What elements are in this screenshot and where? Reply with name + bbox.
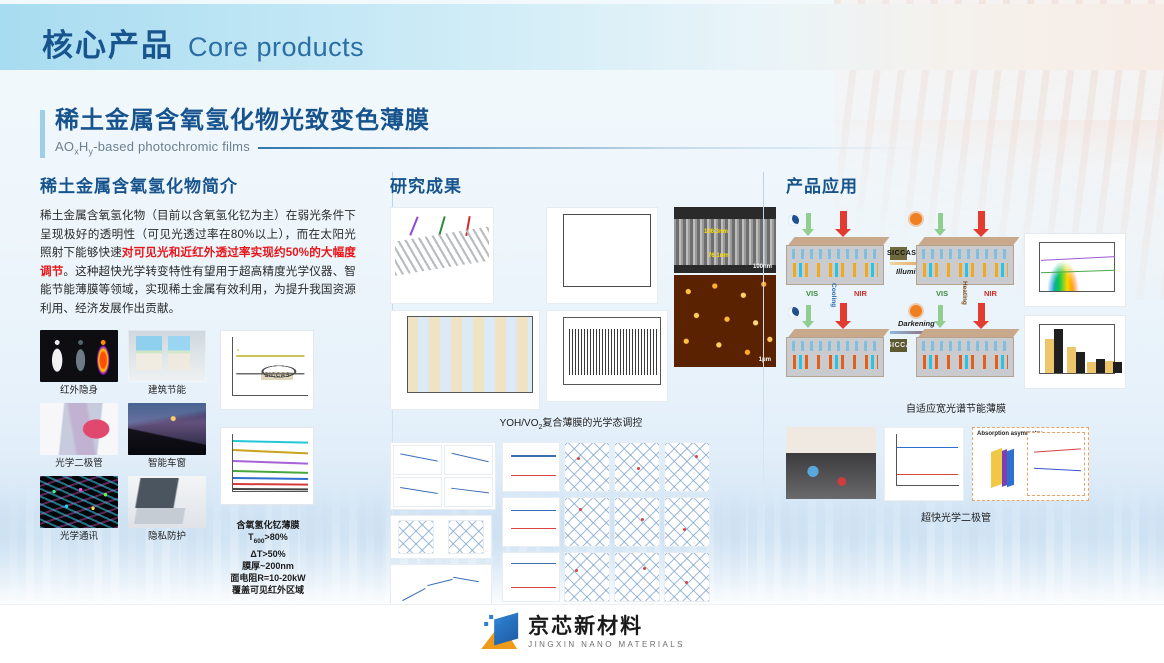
thumb-cell-ir: 红外隐身 bbox=[40, 330, 118, 396]
tem-thickness-label-1: 106.3nm bbox=[704, 229, 728, 235]
slab-row2-br bbox=[920, 355, 1008, 369]
nir-arrow-stem-br bbox=[978, 303, 985, 321]
siccas-watermark: SICCAS bbox=[261, 372, 293, 380]
intro-text-part2: 。这种超快光学转变特性有望用于超高精度光学仪器、智能节能薄膜等领域，实现稀土金属… bbox=[40, 265, 356, 315]
research-heading: 研究成果 bbox=[390, 172, 752, 197]
section-title-cn: 稀土金属含氧氢化物光致变色薄膜 bbox=[55, 106, 918, 136]
md3-red bbox=[511, 587, 556, 588]
section-title-en: AOxHy-based photochromic films bbox=[55, 139, 250, 157]
intro-paragraph: 稀土金属含氧氢化物（目前以含氧氢化钇为主）在弱光条件下呈现极好的透明性（可见光透… bbox=[40, 207, 356, 318]
vis-arrow-head-tr bbox=[934, 229, 946, 236]
md-lattice-2a bbox=[564, 497, 610, 547]
sun-icon-tr bbox=[910, 213, 922, 225]
tem-cross-section-image: 106.3nm 76.1nm 100nm bbox=[674, 207, 776, 273]
gap-line-4 bbox=[451, 488, 489, 494]
series-line-7 bbox=[233, 488, 308, 490]
slab-row1-tr bbox=[920, 249, 1008, 259]
vis-arrow-head-tl bbox=[802, 229, 814, 236]
slab-row2-tl bbox=[790, 263, 878, 277]
thumb-cell-diode: 光学二极管 bbox=[40, 403, 118, 469]
md-energy-chart-3 bbox=[502, 552, 560, 602]
column-intro: 稀土金属含氧氢化物简介 稀土金属含氧氢化物（目前以含氧氢化钇为主）在弱光条件下呈… bbox=[40, 172, 372, 562]
vis-arrow-head-br bbox=[934, 321, 946, 328]
chart-y-axis bbox=[232, 337, 233, 396]
pp-blue-trace bbox=[897, 447, 958, 448]
brand-name-cn: 京芯新材料 bbox=[528, 615, 685, 638]
energy-gap-panel-2 bbox=[444, 445, 493, 475]
column-research: 研究成果 bbox=[372, 172, 764, 562]
nir-arrow-head-tr bbox=[973, 229, 989, 237]
energy-gap-panel-grid bbox=[390, 442, 496, 510]
photochromic-cycle-diagram: SICCAS SICCAS Illuminating bbox=[786, 207, 1016, 392]
afm-surface-image: 1μm bbox=[674, 275, 776, 367]
logo-pixel-3 bbox=[484, 622, 488, 626]
film-slab-bl bbox=[786, 329, 886, 375]
header-title-en: Core products bbox=[188, 32, 364, 63]
film-slab-tr bbox=[916, 237, 1016, 283]
barrier-line-2 bbox=[427, 578, 453, 586]
cycling-stability-chart bbox=[390, 310, 540, 410]
research-caption-1: YOH/VO2复合薄膜的光学态调控 bbox=[390, 417, 752, 434]
lattice-dot bbox=[579, 508, 582, 511]
company-logo: 京芯新材料 JINGXIN NANO MATERIALS bbox=[479, 613, 685, 651]
lattice-initial bbox=[398, 520, 434, 554]
series-line-5 bbox=[233, 477, 308, 480]
thumb-cell-car: 智能车窗 bbox=[128, 403, 206, 469]
series-line-1 bbox=[233, 440, 308, 443]
energy-gap-panel-3 bbox=[393, 477, 442, 507]
gap-line-1 bbox=[400, 454, 438, 463]
md-energy-chart-2 bbox=[502, 497, 560, 547]
md-lattice-1b bbox=[614, 442, 660, 492]
bar-tlum-3 bbox=[1087, 362, 1096, 373]
thumb-label-privacy: 隐私防护 bbox=[128, 531, 206, 542]
md-lattice-1a bbox=[564, 442, 610, 492]
slab-row1-bl bbox=[790, 341, 878, 351]
barrier-line-1 bbox=[402, 587, 426, 600]
switching-oscillation-chart bbox=[546, 310, 668, 402]
column-application: 产品应用 SICCAS bbox=[764, 172, 1126, 562]
thumb-label-diode: 光学二极管 bbox=[40, 458, 118, 469]
lattice-final bbox=[448, 520, 484, 554]
research-figure-row-1: 106.3nm 76.1nm 100nm 1μm bbox=[390, 207, 752, 410]
nir-arrow-head-bl bbox=[835, 321, 851, 329]
siccas-label-1: SICCAS bbox=[887, 250, 916, 257]
spectra-frame bbox=[563, 214, 651, 287]
lattice-dot bbox=[643, 567, 646, 570]
schematic-arrow-3 bbox=[465, 216, 470, 236]
bar-tsol-4 bbox=[1113, 362, 1122, 373]
nir-arrow-head-tl bbox=[835, 229, 851, 237]
vis-arrow-stem-tr bbox=[938, 213, 943, 229]
building-energy-thumb bbox=[128, 330, 206, 382]
thumb-label-building: 建筑节能 bbox=[128, 385, 206, 396]
spec-t-sub: 600 bbox=[254, 538, 265, 545]
siccas-label-3: SICCAS bbox=[887, 342, 916, 349]
heating-label: Heating bbox=[961, 281, 968, 305]
film-slab-tl bbox=[786, 237, 886, 283]
bar-tlum-2 bbox=[1067, 347, 1076, 373]
lattice-dot bbox=[683, 528, 686, 531]
film-structure-schematic bbox=[390, 207, 494, 304]
thumb-label-car: 智能车窗 bbox=[128, 458, 206, 469]
md-row-3 bbox=[502, 552, 710, 602]
transmittance-bar-chart bbox=[1024, 315, 1126, 389]
vis-arrow-stem-br bbox=[938, 305, 943, 321]
tem-scale-label: 100nm bbox=[753, 264, 772, 270]
spec-line-4: 膜厚~200nm bbox=[220, 560, 316, 572]
sub-post: -based photochromic films bbox=[93, 139, 250, 154]
solar-spectrum-fill bbox=[1041, 247, 1085, 291]
md-lattice-2c bbox=[664, 497, 710, 547]
thumb-col-1: 红外隐身 光学二极管 光学通讯 bbox=[40, 330, 118, 596]
application-heading: 产品应用 bbox=[786, 172, 1126, 197]
thumb-cell-fiber: 光学通讯 bbox=[40, 476, 118, 542]
energy-gap-panel-1 bbox=[393, 445, 442, 475]
thumb-cell-privacy: 隐私防护 bbox=[128, 476, 206, 542]
spec-line-5: 面电阻R=10-20kW bbox=[220, 572, 316, 584]
md1-blue bbox=[511, 455, 556, 456]
header-title-cn: 核心产品 bbox=[42, 20, 174, 65]
inset-red-line bbox=[1034, 449, 1081, 453]
header-title-group: 核心产品 Core products bbox=[42, 20, 364, 65]
privacy-protection-thumb bbox=[128, 476, 206, 528]
asym-inset-chart bbox=[1027, 432, 1085, 496]
caption1-pre: YOH/VO bbox=[500, 418, 539, 429]
film-specs-list: 含氧氢化钇薄膜 T600>80% ΔT>50% 膜厚~200nm 面电阻R=10… bbox=[220, 519, 316, 596]
optical-diode-thumb bbox=[40, 403, 118, 455]
thumb-label-ir: 红外隐身 bbox=[40, 385, 118, 396]
chart2-x-axis bbox=[232, 491, 308, 492]
smart-car-window-thumb bbox=[128, 403, 206, 455]
lattice-dot bbox=[637, 467, 640, 470]
md-lattice-1c bbox=[664, 442, 710, 492]
pp-x-axis bbox=[896, 485, 959, 486]
bar-tsol-3 bbox=[1096, 359, 1105, 373]
thumb-cell-building: 建筑节能 bbox=[128, 330, 206, 396]
slab-row1-br bbox=[920, 341, 1008, 351]
energy-gap-panel-4 bbox=[444, 477, 493, 507]
thumb-col-2: 建筑节能 智能车窗 隐私防护 bbox=[128, 330, 206, 596]
nir-arrow-stem-tr bbox=[978, 211, 985, 229]
page-footer: 京芯新材料 JINGXIN NANO MATERIALS bbox=[0, 604, 1164, 663]
gap-line-2 bbox=[451, 453, 488, 463]
nir-arrow-stem-bl bbox=[840, 303, 847, 321]
slide: 核心产品 Core products 稀土金属含氧氢化物光致变色薄膜 AOxHy… bbox=[0, 0, 1164, 663]
lattice-dot bbox=[577, 457, 580, 460]
slab-row2-bl bbox=[790, 355, 878, 369]
diode-layer-yellow bbox=[991, 448, 1002, 488]
spec-t-val: >80% bbox=[265, 532, 288, 542]
nir-arrow-head-br bbox=[973, 321, 989, 329]
logo-pixel-1 bbox=[489, 615, 493, 619]
spec-line-6: 覆盖可见红外区域 bbox=[220, 584, 316, 596]
application-figure-row-2: Absorption asymmetry bbox=[786, 427, 1126, 501]
md2-red bbox=[511, 528, 556, 529]
transmittance-wavelength-chart: SICCAS bbox=[220, 330, 314, 410]
schematic-arrow-1 bbox=[409, 216, 418, 235]
md-lattice-3c bbox=[664, 552, 710, 602]
application-thumb-grid: 红外隐身 光学二极管 光学通讯 建筑节能 bbox=[40, 330, 356, 596]
logo-mark-icon bbox=[479, 613, 519, 651]
diode-layer-blue bbox=[1007, 449, 1014, 488]
hydrogen-diffusion-schematic bbox=[390, 515, 492, 559]
thumb-col-charts: SICCAS 含氧氢化钇薄膜 bbox=[220, 330, 316, 596]
cooling-label: Cooling bbox=[830, 283, 837, 307]
research-figure-row-2 bbox=[390, 442, 752, 612]
title-accent-bar bbox=[40, 110, 45, 158]
pp-y-axis bbox=[896, 434, 897, 486]
thumb-label-fiber: 光学通讯 bbox=[40, 531, 118, 542]
pump-probe-kinetics-chart bbox=[884, 427, 964, 501]
bar-tsol-2 bbox=[1076, 352, 1085, 373]
brand-name-en: JINGXIN NANO MATERIALS bbox=[528, 640, 685, 649]
series-line-3 bbox=[233, 460, 308, 464]
nir-label-left: NIR bbox=[854, 289, 867, 298]
sun-icon-br bbox=[910, 305, 922, 317]
application-figure-row-1: SICCAS SICCAS Illuminating bbox=[786, 207, 1126, 392]
page-header: 核心产品 Core products bbox=[0, 4, 1164, 70]
lattice-dot bbox=[695, 455, 698, 458]
slab-row1-tl bbox=[790, 249, 878, 259]
section-subtitle-row: AOxHy-based photochromic films bbox=[55, 139, 918, 157]
barrier-line-3 bbox=[453, 577, 479, 583]
application-caption-1: 自适应宽光谱节能薄膜 bbox=[786, 400, 1126, 415]
md-lattice-3a bbox=[564, 552, 610, 602]
lattice-dot bbox=[685, 581, 688, 584]
moon-icon-bl bbox=[788, 307, 799, 318]
application-caption-2: 超快光学二极管 bbox=[786, 509, 1126, 524]
tem-thickness-label-2: 76.1nm bbox=[708, 253, 729, 259]
content-columns: 稀土金属含氧氢化物简介 稀土金属含氧氢化物（目前以含氧氢化钇为主）在弱光条件下呈… bbox=[40, 172, 1126, 562]
optical-communication-thumb bbox=[40, 476, 118, 528]
sub-pre: AO bbox=[55, 139, 74, 154]
spec-line-1: 含氧氢化钇薄膜 bbox=[220, 519, 316, 531]
moon-icon bbox=[788, 215, 799, 226]
vis-label-right: VIS bbox=[936, 289, 948, 298]
section-title-cn-text: 稀土金属含氧氢化物光致变色薄膜 bbox=[55, 107, 430, 134]
bar-tlum-1 bbox=[1045, 339, 1054, 373]
bar-tsol-1 bbox=[1054, 329, 1063, 373]
nir-arrow-stem-tl bbox=[840, 211, 847, 229]
darkening-label: Darkening bbox=[898, 319, 935, 328]
logo-pixel-2 bbox=[496, 620, 500, 624]
cycle-frame bbox=[407, 316, 533, 393]
application-charts bbox=[1024, 233, 1126, 392]
infrared-stealth-thumb bbox=[40, 330, 118, 382]
vis-arrow-stem-bl bbox=[806, 305, 811, 321]
series-line-6 bbox=[233, 483, 308, 485]
transmittance-spectra-chart bbox=[546, 207, 658, 304]
film-slab-br bbox=[916, 329, 1016, 375]
chart-x-axis bbox=[232, 395, 308, 396]
vis-arrow-head-bl bbox=[802, 321, 814, 328]
spec-line-2: T600>80% bbox=[220, 531, 316, 548]
inset-blue-line bbox=[1034, 468, 1081, 472]
md-row-2 bbox=[502, 497, 710, 547]
absorption-asymmetry-diagram: Absorption asymmetry bbox=[972, 427, 1089, 501]
series-line-4 bbox=[233, 470, 308, 473]
section-title-block: 稀土金属含氧氢化物光致变色薄膜 AOxHy-based photochromic… bbox=[40, 106, 918, 157]
pp-red-trace bbox=[897, 474, 958, 475]
md2-blue bbox=[511, 510, 556, 511]
md-energy-chart-1 bbox=[502, 442, 560, 492]
lattice-dot bbox=[575, 569, 578, 572]
osc-waveform bbox=[569, 329, 657, 375]
md-lattice-2b bbox=[614, 497, 660, 547]
pump-probe-setup-photo bbox=[786, 427, 876, 499]
spectral-response-chart bbox=[1024, 233, 1126, 307]
gap-line-3 bbox=[400, 487, 438, 494]
md-row-1 bbox=[502, 442, 710, 492]
logo-text-group: 京芯新材料 JINGXIN NANO MATERIALS bbox=[528, 615, 685, 649]
md3-blue bbox=[511, 563, 556, 564]
md-lattice-3b bbox=[614, 552, 660, 602]
nir-label-right: NIR bbox=[984, 289, 997, 298]
caption1-post: 复合薄膜的光学态调控 bbox=[542, 418, 642, 429]
transmittance-time-chart bbox=[220, 427, 314, 505]
schematic-arrow-2 bbox=[438, 216, 445, 236]
md1-red bbox=[511, 475, 556, 476]
spec-line-3: ΔT>50% bbox=[220, 548, 316, 560]
vis-label-left: VIS bbox=[806, 289, 818, 298]
series-line-2 bbox=[233, 449, 308, 454]
lattice-dot bbox=[641, 518, 644, 521]
slab-row2-tr bbox=[920, 263, 1008, 277]
title-rule bbox=[258, 147, 918, 149]
intro-heading: 稀土金属含氧氢化物简介 bbox=[40, 172, 356, 197]
vis-arrow-stem-tl bbox=[806, 213, 811, 229]
